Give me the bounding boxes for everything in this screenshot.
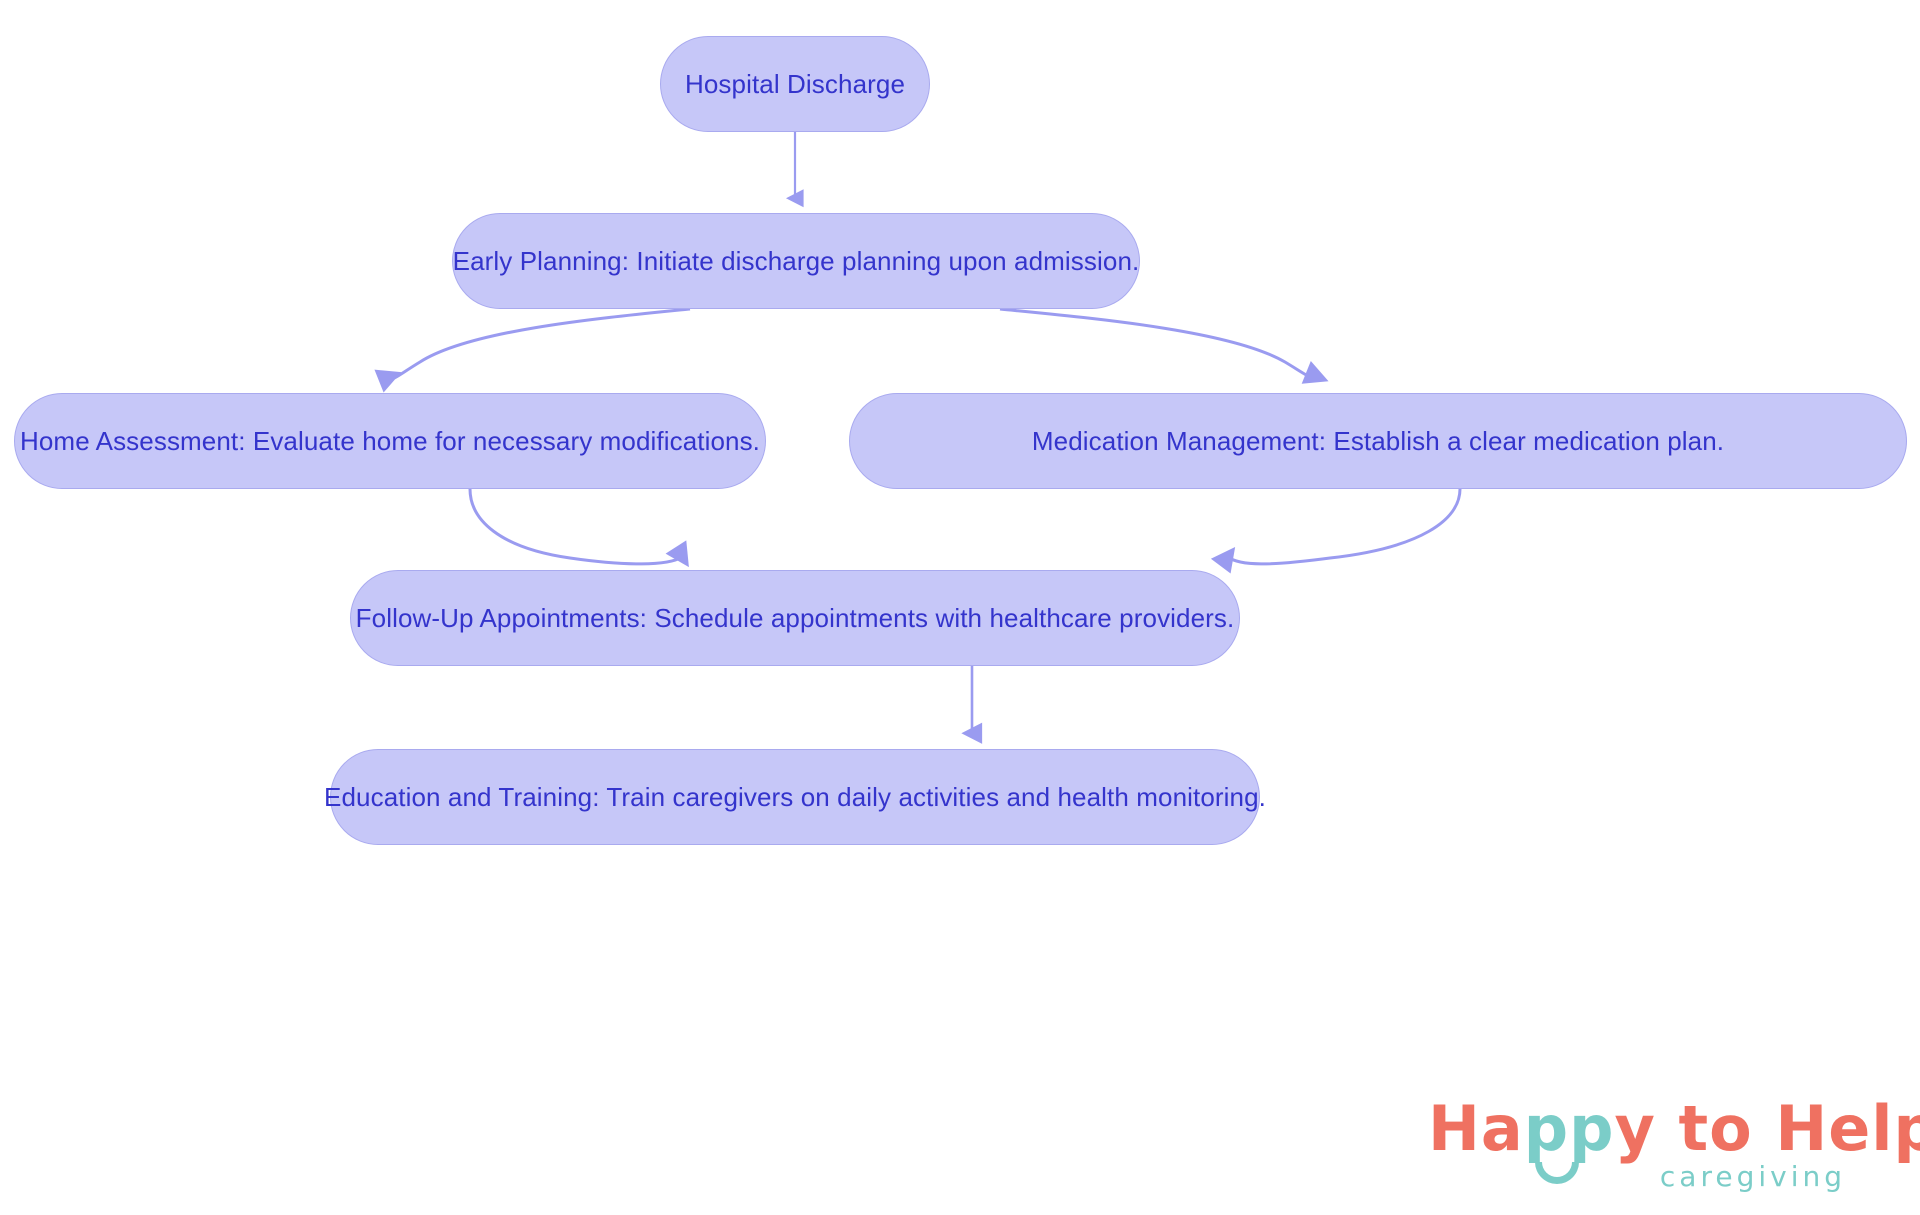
logo-text-pp: pp: [1524, 1092, 1615, 1165]
node-label: Early Planning: Initiate discharge plann…: [453, 245, 1140, 278]
flowchart-canvas: Hospital Discharge Early Planning: Initi…: [0, 0, 1920, 1215]
node-label: Medication Management: Establish a clear…: [1032, 425, 1724, 458]
logo-text-to: to: [1679, 1092, 1753, 1165]
node-home-assessment[interactable]: Home Assessment: Evaluate home for neces…: [14, 393, 766, 489]
edge-medication-mgmt-to-followup: [1228, 489, 1460, 564]
edge-early-planning-to-medication-mgmt: [1000, 309, 1317, 379]
edge-home-assessment-to-followup: [470, 489, 682, 564]
node-label: Home Assessment: Evaluate home for neces…: [20, 425, 760, 458]
logo-text-help: Help: [1775, 1092, 1920, 1165]
smile-icon: [1535, 1162, 1579, 1184]
node-medication-management[interactable]: Medication Management: Establish a clear…: [849, 393, 1907, 489]
node-label: Follow-Up Appointments: Schedule appoint…: [356, 602, 1235, 635]
logo-text-space1: [1656, 1092, 1679, 1165]
logo-text-ha: Ha: [1428, 1092, 1524, 1165]
logo-text-y: y: [1615, 1092, 1656, 1165]
node-early-planning[interactable]: Early Planning: Initiate discharge plann…: [452, 213, 1140, 309]
node-follow-up-appointments[interactable]: Follow-Up Appointments: Schedule appoint…: [350, 570, 1240, 666]
node-hospital-discharge[interactable]: Hospital Discharge: [660, 36, 930, 132]
edge-early-planning-to-home-assessment: [390, 309, 690, 379]
logo-wordmark: Happy to Help: [1428, 1098, 1920, 1160]
happy-to-help-logo: Happy to Help caregiving: [1428, 1098, 1848, 1198]
node-label: Education and Training: Train caregivers…: [324, 781, 1266, 814]
node-label: Hospital Discharge: [685, 68, 905, 101]
logo-tagline: caregiving: [1660, 1160, 1846, 1193]
node-education-and-training[interactable]: Education and Training: Train caregivers…: [330, 749, 1260, 845]
logo-text-space2: [1753, 1092, 1776, 1165]
